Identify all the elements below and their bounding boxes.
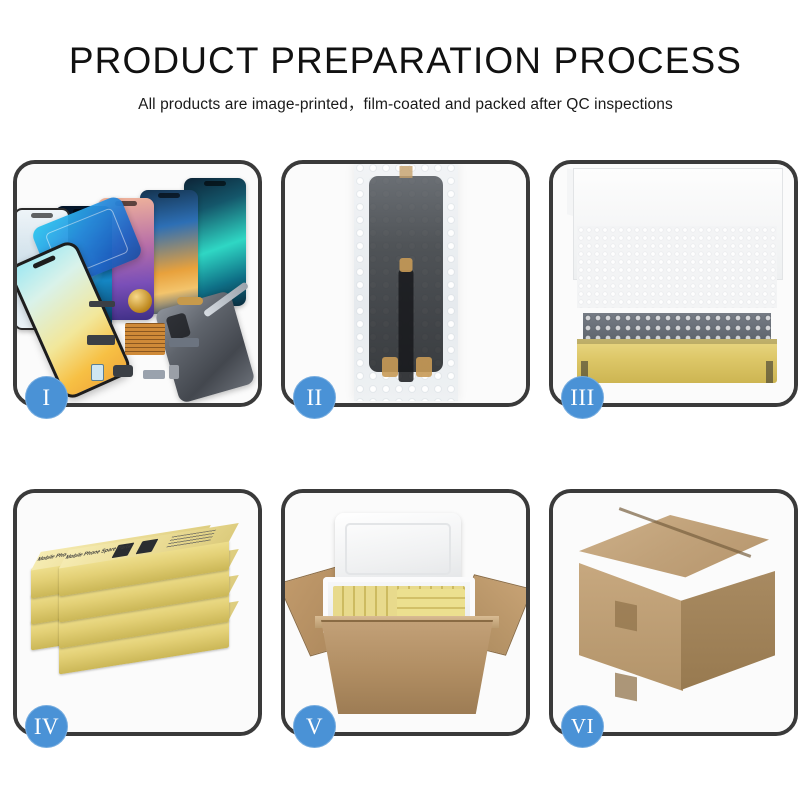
spare-part-d [169,338,199,347]
step-badge-6: VI [561,705,604,748]
connector-pin-grid [125,323,165,355]
phone-notch-icon [204,181,226,186]
carton-tape-upper [615,601,637,632]
phone-notch-icon [158,193,180,198]
page-title: PRODUCT PREPARATION PROCESS [0,42,811,79]
process-step-panel-1[interactable]: I [13,160,262,407]
process-step-panel-2[interactable]: II [281,160,530,407]
gold-component [128,289,152,313]
header: PRODUCT PREPARATION PROCESS All products… [0,0,811,114]
foam-sheet [577,226,777,308]
step-3-image [553,164,794,403]
step-badge-1: I [25,376,68,419]
carton-side-face [681,571,775,695]
step-2-image [285,164,526,403]
carton-body [321,620,493,714]
gold-box-stack: Mobile Phone Spare Parts Mobile Phone Sp… [31,511,247,711]
spare-part-a [89,301,115,307]
spare-part-f [143,370,165,379]
page-subtitle: All products are image-printed，film-coat… [0,92,811,114]
styrofoam-lid [335,513,461,585]
tape-strip [399,166,412,178]
step-1-image [17,164,258,403]
process-step-panel-6[interactable]: VI [549,489,798,736]
spare-part-b [177,297,203,305]
spare-part-h [91,364,104,381]
process-step-panel-4[interactable]: Mobile Phone Spare Parts Mobile Phone Sp… [13,489,262,736]
step-badge-3: III [561,376,604,419]
bubble-wrap-sleeve [354,164,458,401]
carton-tape-lower [615,673,637,702]
step-6-image [553,493,794,732]
tray-notch-right [766,361,773,383]
flex-cable [398,270,413,382]
phone-notch-icon [31,213,53,218]
step-4-image: Mobile Phone Spare Parts Mobile Phone Sp… [17,493,258,732]
spare-part-g [169,365,179,379]
gold-box-tray [577,339,777,383]
process-step-grid: I II III [13,160,798,736]
process-step-panel-5[interactable]: V [281,489,530,736]
connector-left [416,357,432,377]
step-5-image [285,493,526,732]
step-badge-4: IV [25,705,68,748]
spare-part-c [87,335,115,345]
process-step-panel-3[interactable]: III [549,160,798,407]
connector-right [382,357,398,377]
step-badge-5: V [293,705,336,748]
connector-mid [399,258,412,272]
step-badge-2: II [293,376,336,419]
spare-part-e [113,365,133,377]
